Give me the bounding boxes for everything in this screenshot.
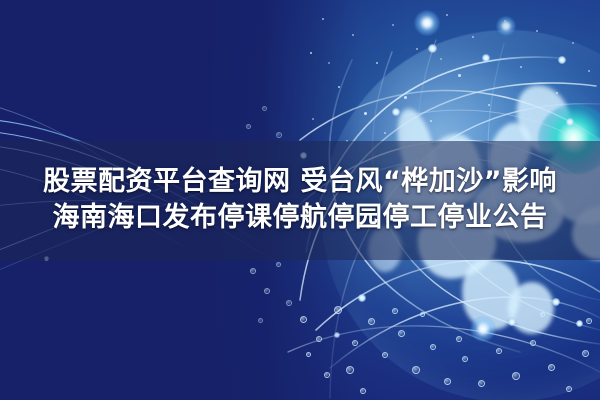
headline-line-2: 海南海口发布停课停航停园停工停业公告 — [53, 202, 548, 235]
banner-image: 股票配资平台查询网 受台风“桦加沙”影响 海南海口发布停课停航停园停工停业公告 — [0, 0, 600, 400]
headline-line-1: 股票配资平台查询网 受台风“桦加沙”影响 — [43, 166, 557, 199]
headline-block: 股票配资平台查询网 受台风“桦加沙”影响 海南海口发布停课停航停园停工停业公告 — [0, 141, 600, 260]
